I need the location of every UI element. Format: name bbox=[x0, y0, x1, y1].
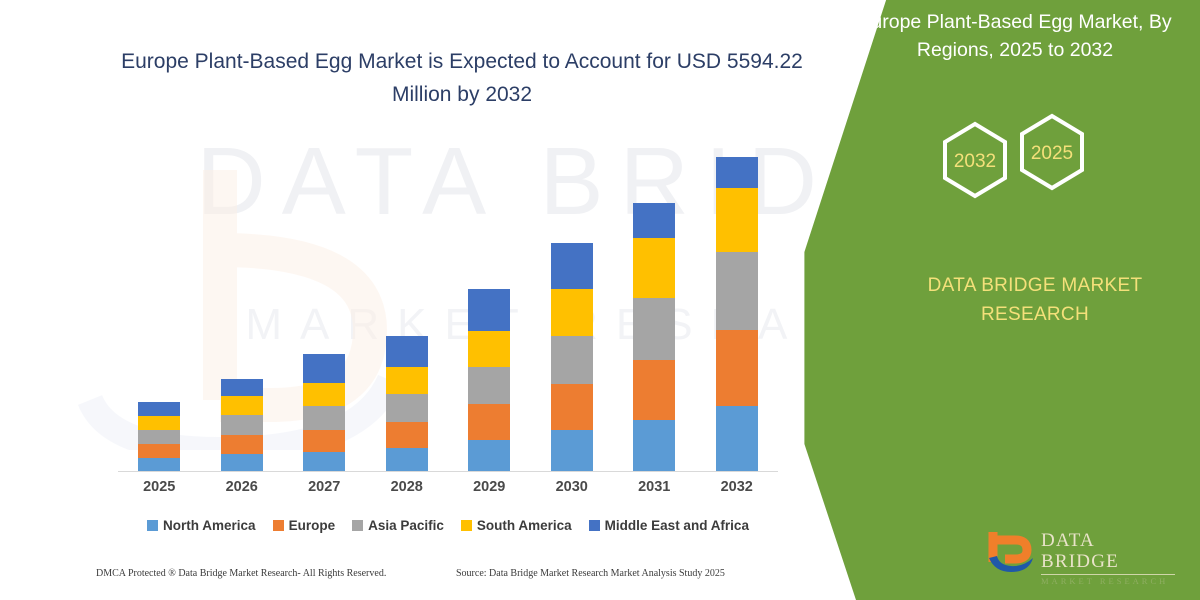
legend-label: North America bbox=[163, 518, 256, 533]
x-axis-labels: 20252026202720282029203020312032 bbox=[118, 479, 778, 501]
legend-item-europe[interactable]: Europe bbox=[273, 518, 336, 533]
data-bridge-logo: DATA BRIDGE MARKET RESEARCH bbox=[985, 528, 1175, 574]
footer-source: Source: Data Bridge Market Research Mark… bbox=[456, 568, 725, 579]
bar-segment-asia-pacific bbox=[468, 367, 510, 404]
bar-segment-north-america bbox=[633, 420, 675, 472]
bar-segment-south-america bbox=[221, 396, 263, 415]
bar-segment-south-america bbox=[468, 331, 510, 367]
bar-2027[interactable] bbox=[303, 354, 345, 472]
bar-segment-north-america bbox=[138, 458, 180, 472]
bar-segment-north-america bbox=[221, 454, 263, 472]
footer: DMCA Protected ® Data Bridge Market Rese… bbox=[0, 568, 790, 588]
bar-2031[interactable] bbox=[633, 203, 675, 472]
logo-mark-icon bbox=[985, 528, 1037, 574]
bar-segment-asia-pacific bbox=[551, 336, 593, 384]
x-axis-label-2029: 2029 bbox=[448, 479, 530, 495]
legend-swatch-icon bbox=[461, 520, 472, 531]
bar-segment-north-america bbox=[303, 452, 345, 472]
bar-segment-north-america bbox=[716, 406, 758, 472]
bar-segment-asia-pacific bbox=[138, 430, 180, 444]
bar-segment-south-america bbox=[551, 289, 593, 336]
bar-2026[interactable] bbox=[221, 379, 263, 472]
bar-2030[interactable] bbox=[551, 243, 593, 472]
bar-segment-south-america bbox=[633, 238, 675, 298]
bar-segment-asia-pacific bbox=[716, 252, 758, 330]
bar-segment-asia-pacific bbox=[221, 415, 263, 435]
legend-swatch-icon bbox=[352, 520, 363, 531]
x-axis-line bbox=[118, 471, 778, 472]
bar-segment-europe bbox=[221, 435, 263, 454]
x-axis-label-2030: 2030 bbox=[531, 479, 613, 495]
panel-brand-text: DATA BRIDGE MARKET RESEARCH bbox=[890, 272, 1180, 329]
bar-segment-middle-east-and-africa bbox=[138, 402, 180, 416]
bar-segment-middle-east-and-africa bbox=[716, 157, 758, 188]
chart-title: Europe Plant-Based Egg Market is Expecte… bbox=[112, 46, 812, 111]
bar-segment-south-america bbox=[303, 383, 345, 406]
bar-2029[interactable] bbox=[468, 289, 510, 472]
x-axis-label-2028: 2028 bbox=[366, 479, 448, 495]
legend-item-south-america[interactable]: South America bbox=[461, 518, 572, 533]
chart-legend: North AmericaEuropeAsia PacificSouth Ame… bbox=[118, 514, 778, 536]
bar-segment-europe bbox=[633, 360, 675, 420]
panel-title: Europe Plant-Based Egg Market, By Region… bbox=[840, 8, 1190, 65]
bar-segment-north-america bbox=[386, 448, 428, 472]
bar-segment-europe bbox=[468, 404, 510, 440]
bar-segment-middle-east-and-africa bbox=[633, 203, 675, 238]
x-axis-label-2027: 2027 bbox=[283, 479, 365, 495]
logo-text-secondary: MARKET RESEARCH bbox=[1041, 576, 1175, 586]
hexagon-2032-label: 2032 bbox=[954, 151, 996, 172]
bar-segment-europe bbox=[551, 384, 593, 430]
bar-segment-europe bbox=[138, 444, 180, 458]
bar-segment-north-america bbox=[468, 440, 510, 472]
bar-plot-area bbox=[118, 140, 778, 472]
x-axis-label-2025: 2025 bbox=[118, 479, 200, 495]
bar-2025[interactable] bbox=[138, 402, 180, 472]
legend-label: Asia Pacific bbox=[368, 518, 444, 533]
legend-label: Middle East and Africa bbox=[605, 518, 749, 533]
hexagon-badges: 2032 2025 bbox=[930, 112, 1110, 212]
legend-item-middle-east-and-africa[interactable]: Middle East and Africa bbox=[589, 518, 749, 533]
hexagon-2025-label: 2025 bbox=[1031, 143, 1073, 164]
bar-segment-south-america bbox=[716, 188, 758, 252]
bar-2028[interactable] bbox=[386, 336, 428, 472]
bar-segment-asia-pacific bbox=[386, 394, 428, 422]
bar-segment-europe bbox=[716, 330, 758, 406]
legend-label: Europe bbox=[289, 518, 336, 533]
logo-text-primary: DATA BRIDGE bbox=[1041, 531, 1175, 573]
bar-segment-middle-east-and-africa bbox=[551, 243, 593, 289]
legend-swatch-icon bbox=[589, 520, 600, 531]
bar-segment-middle-east-and-africa bbox=[468, 289, 510, 331]
bar-segment-europe bbox=[386, 422, 428, 448]
chart-canvas: DATA BRIDGE MARKET RESEARCH Europe Plant… bbox=[0, 0, 1200, 600]
legend-item-asia-pacific[interactable]: Asia Pacific bbox=[352, 518, 444, 533]
bar-segment-middle-east-and-africa bbox=[221, 379, 263, 396]
bar-2032[interactable] bbox=[716, 157, 758, 472]
legend-swatch-icon bbox=[147, 520, 158, 531]
x-axis-label-2026: 2026 bbox=[201, 479, 283, 495]
bar-segment-asia-pacific bbox=[633, 298, 675, 360]
logo-divider bbox=[1041, 574, 1175, 575]
bar-segment-asia-pacific bbox=[303, 406, 345, 430]
bar-segment-middle-east-and-africa bbox=[303, 354, 345, 383]
legend-item-north-america[interactable]: North America bbox=[147, 518, 256, 533]
bar-segment-south-america bbox=[386, 367, 428, 394]
bar-segment-middle-east-and-africa bbox=[386, 336, 428, 367]
legend-label: South America bbox=[477, 518, 572, 533]
legend-swatch-icon bbox=[273, 520, 284, 531]
bar-segment-north-america bbox=[551, 430, 593, 472]
bar-segment-europe bbox=[303, 430, 345, 452]
bar-segment-south-america bbox=[138, 416, 180, 430]
x-axis-label-2031: 2031 bbox=[613, 479, 695, 495]
footer-copyright: DMCA Protected ® Data Bridge Market Rese… bbox=[96, 568, 386, 579]
x-axis-label-2032: 2032 bbox=[696, 479, 778, 495]
